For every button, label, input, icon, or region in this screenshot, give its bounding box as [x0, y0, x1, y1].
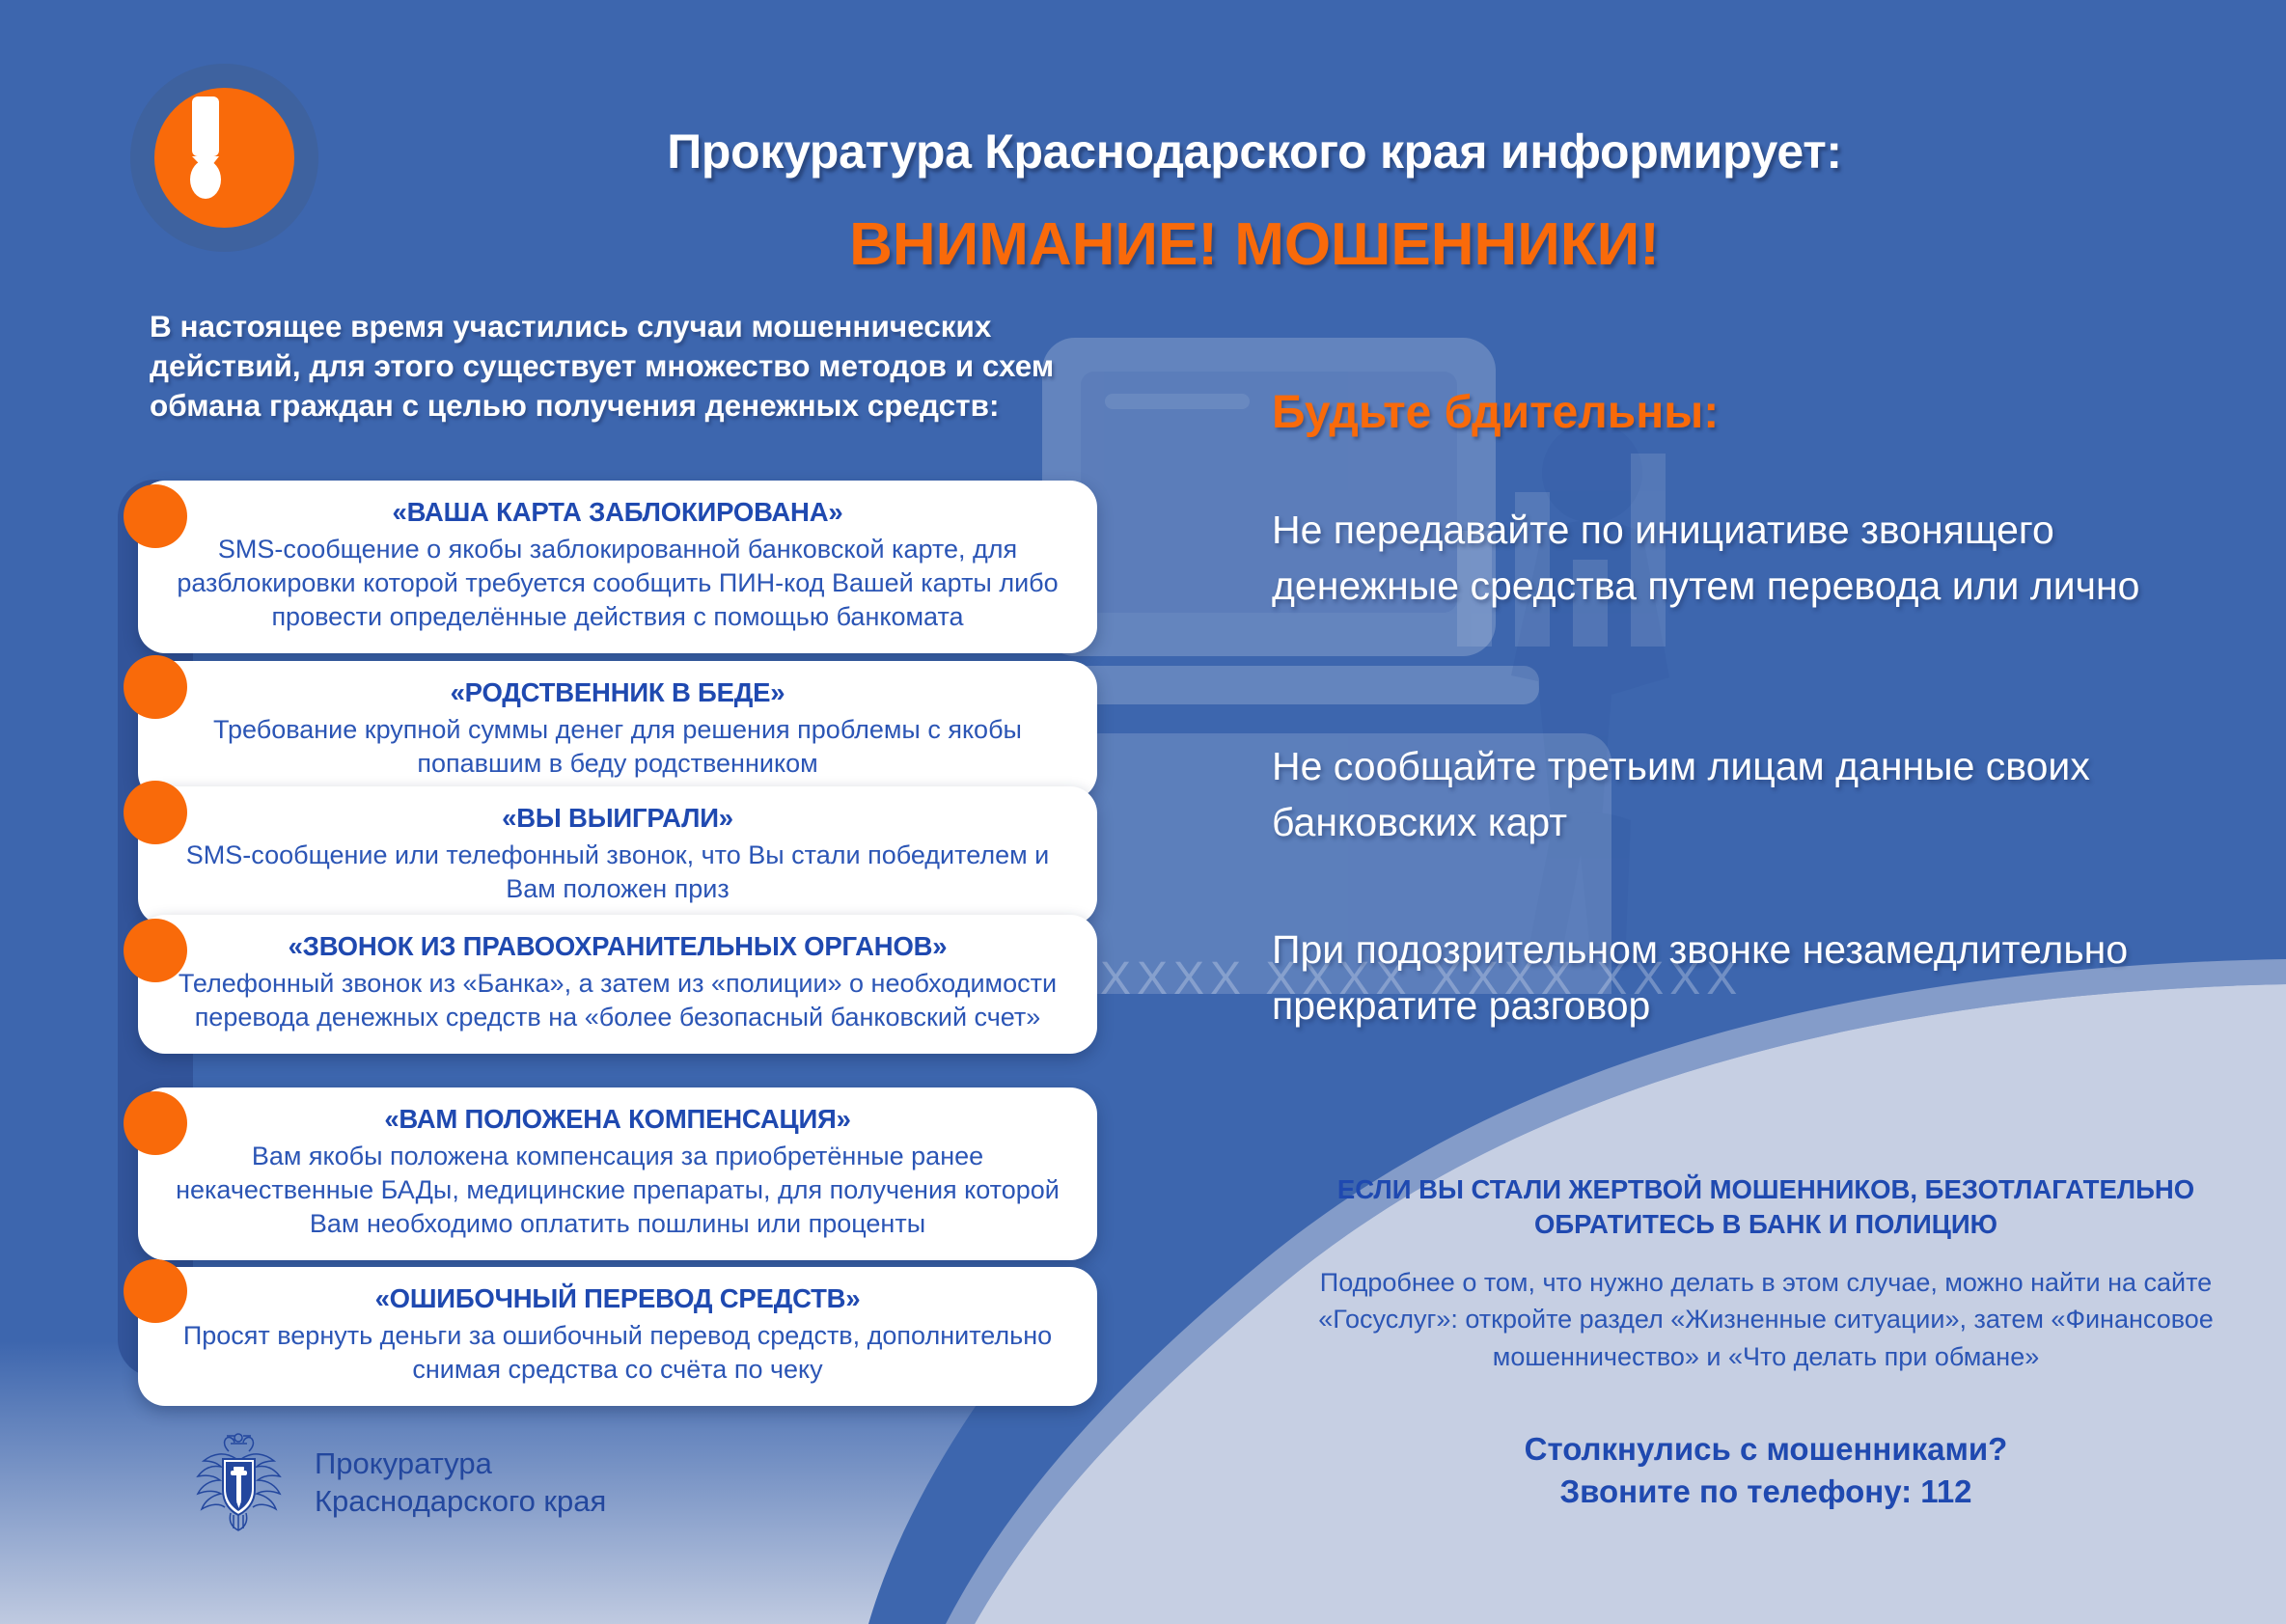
scheme-card: «ОШИБОЧНЫЙ ПЕРЕВОД СРЕДСТВ» Просят верну…: [138, 1267, 1097, 1406]
poster-canvas: XXXX XXXX XXXX XXXX XX/XX Прокуратура Кр…: [0, 0, 2286, 1624]
scheme-card: «ВАША КАРТА ЗАБЛОКИРОВАНА» SMS-сообщение…: [138, 481, 1097, 653]
organization-name: Прокуратура Краснодарского края: [315, 1445, 606, 1521]
scheme-card-body: Телефонный звонок из «Банка», а затем из…: [171, 967, 1064, 1034]
advice-tip: Не передавайте по инициативе звонящего д…: [1272, 502, 2198, 614]
exclamation-badge-icon: [130, 64, 318, 252]
scheme-card-title: «ОШИБОЧНЫЙ ПЕРЕВОД СРЕДСТВ»: [171, 1282, 1064, 1315]
scheme-card-body: Требование крупной суммы денег для решен…: [171, 713, 1064, 781]
scheme-card: «РОДСТВЕННИК В БЕДЕ» Требование крупной …: [138, 661, 1097, 800]
scheme-bullet: [124, 1091, 187, 1155]
advice-heading: Будьте бдительны:: [1272, 386, 1719, 439]
scheme-card-title: «ВАМ ПОЛОЖЕНА КОМПЕНСАЦИЯ»: [171, 1103, 1064, 1136]
scheme-bullet: [124, 919, 187, 982]
page-subtitle: ВНИМАНИЕ! МОШЕННИКИ!: [579, 210, 1930, 279]
scheme-card-body: Вам якобы положена компенсация за приобр…: [171, 1140, 1064, 1241]
prosecutor-crest-icon: [188, 1430, 289, 1534]
scheme-card-body: SMS-сообщение или телефонный звонок, что…: [171, 839, 1064, 906]
cta-line-2: Звоните по телефону: 112: [1283, 1471, 2248, 1513]
scheme-card-title: «ВЫ ВЫИГРАЛИ»: [171, 802, 1064, 835]
scheme-bullet: [124, 484, 187, 548]
gosuslugi-note: Подробнее о том, что нужно делать в этом…: [1283, 1264, 2248, 1375]
scheme-card-title: «ЗВОНОК ИЗ ПРАВООХРАНИТЕЛЬНЫХ ОРГАНОВ»: [171, 930, 1064, 963]
scheme-card: «ВЫ ВЫИГРАЛИ» SMS-сообщение или телефонн…: [138, 786, 1097, 925]
scheme-bullet: [124, 1259, 187, 1323]
advice-tip: При подозрительном звонке незамедлительн…: [1272, 922, 2198, 1033]
advice-tip: Не сообщайте третьим лицам данные своих …: [1272, 738, 2198, 850]
scheme-card-title: «РОДСТВЕННИК В БЕДЕ»: [171, 676, 1064, 709]
scheme-bullet: [124, 781, 187, 844]
scheme-card: «ЗВОНОК ИЗ ПРАВООХРАНИТЕЛЬНЫХ ОРГАНОВ» Т…: [138, 915, 1097, 1054]
emergency-cta: Столкнулись с мошенниками? Звоните по те…: [1283, 1428, 2248, 1512]
scheme-card-title: «ВАША КАРТА ЗАБЛОКИРОВАНА»: [171, 496, 1064, 529]
page-title: Прокуратура Краснодарского края информир…: [579, 124, 1930, 179]
scheme-card-body: Просят вернуть деньги за ошибочный перев…: [171, 1319, 1064, 1387]
scheme-card-body: SMS-сообщение о якобы заблокированной ба…: [171, 533, 1064, 634]
intro-paragraph: В настоящее время участились случаи моше…: [150, 307, 1115, 426]
scheme-bullet: [124, 655, 187, 719]
scheme-card: «ВАМ ПОЛОЖЕНА КОМПЕНСАЦИЯ» Вам якобы пол…: [138, 1087, 1097, 1260]
victim-notice: ЕСЛИ ВЫ СТАЛИ ЖЕРТВОЙ МОШЕННИКОВ, БЕЗОТЛ…: [1283, 1172, 2248, 1243]
cta-line-1: Столкнулись с мошенниками?: [1283, 1428, 2248, 1471]
footer-logo: Прокуратура Краснодарского края: [188, 1430, 606, 1534]
